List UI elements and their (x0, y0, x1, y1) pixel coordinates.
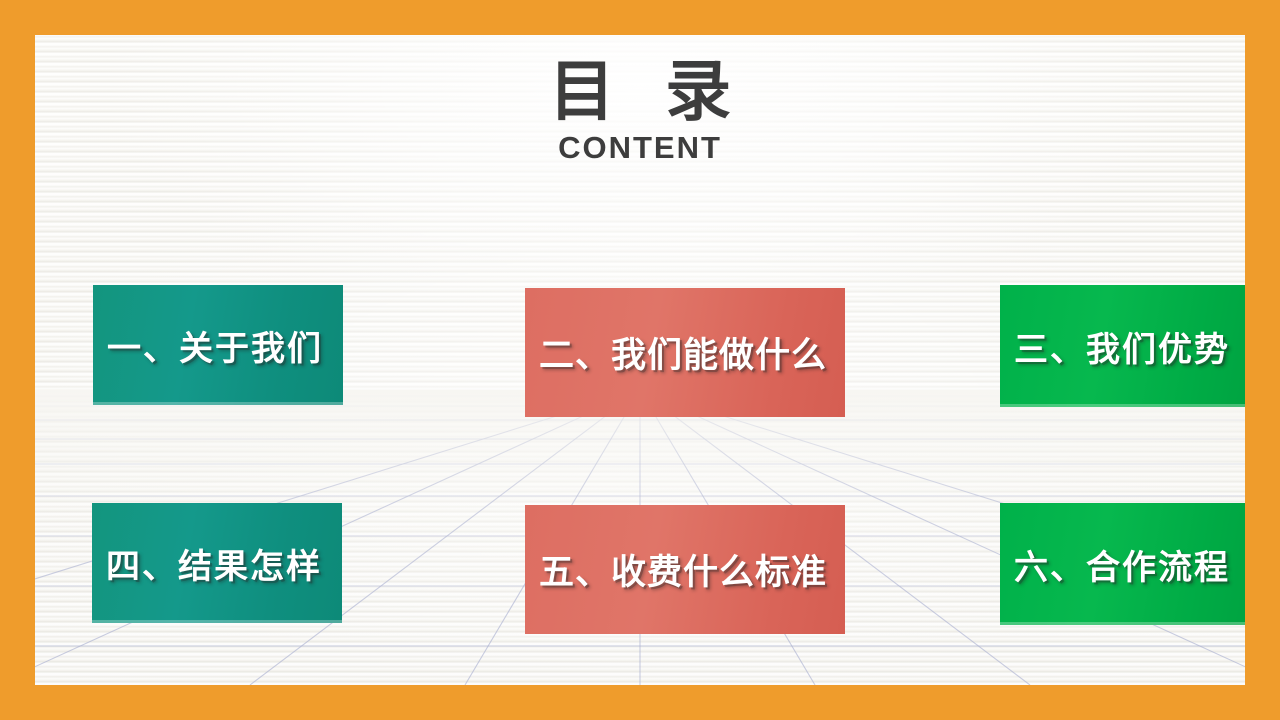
content-item-2-label: 二、我们能做什么 (539, 327, 827, 378)
slide-canvas: 目 录 CONTENT 一、关于我们 二、我们能做什么 三、我们优势 四、结果怎… (0, 0, 1280, 720)
slide-title-block: 目 录 CONTENT (35, 57, 1245, 166)
content-item-1-label: 一、关于我们 (107, 321, 323, 370)
content-item-2[interactable]: 二、我们能做什么 (525, 288, 845, 417)
page-subtitle: CONTENT (35, 130, 1245, 166)
content-item-6[interactable]: 六、合作流程 (1000, 503, 1245, 625)
content-item-4-label: 四、结果怎样 (106, 539, 322, 588)
content-item-5[interactable]: 五、收费什么标准 (525, 505, 845, 634)
content-item-1[interactable]: 一、关于我们 (93, 285, 343, 405)
slide-inner-panel: 目 录 CONTENT 一、关于我们 二、我们能做什么 三、我们优势 四、结果怎… (35, 35, 1245, 685)
content-item-4[interactable]: 四、结果怎样 (92, 503, 342, 623)
content-item-6-label: 六、合作流程 (1014, 540, 1230, 589)
page-title: 目 录 (35, 57, 1245, 126)
content-item-5-label: 五、收费什么标准 (539, 544, 827, 595)
content-item-3-label: 三、我们优势 (1014, 322, 1230, 371)
content-item-3[interactable]: 三、我们优势 (1000, 285, 1245, 407)
